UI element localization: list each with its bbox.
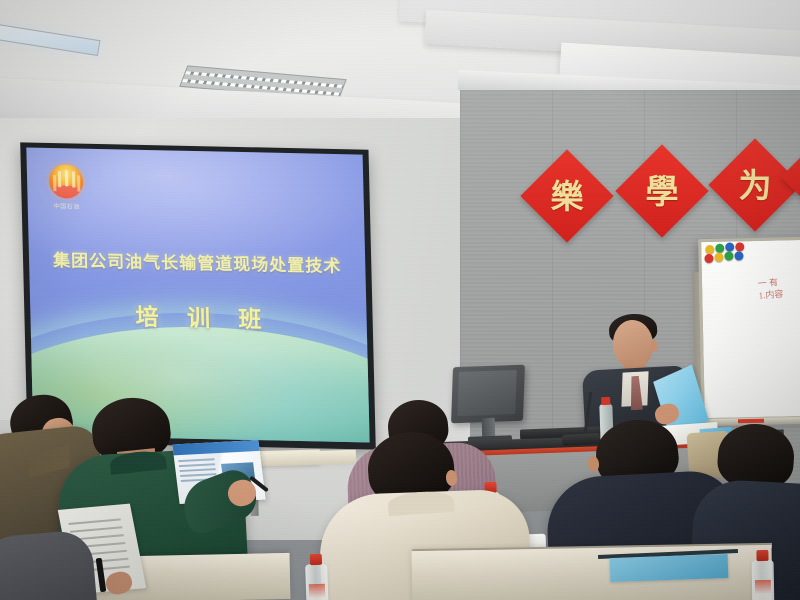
magnet-icon (704, 254, 713, 263)
booklet-text-line (179, 463, 215, 467)
whiteboard-writing: 一 有 1.内容 (757, 276, 783, 302)
banner-character: 學 (646, 175, 679, 208)
microphone-base-icon (562, 433, 601, 446)
booklet-text-line (178, 458, 214, 462)
attendee-front-left (0, 529, 97, 600)
slide-title-line-2: 培 训 班 (30, 295, 367, 336)
slide-title-line-1: 集团公司油气长输管道现场处置技术 (29, 245, 366, 277)
magnet-icon (714, 253, 723, 262)
lcd-monitor (451, 365, 525, 424)
projection-screen: 中国石油 集团公司油气长输管道现场处置技术 培 训 班 (26, 148, 369, 443)
cnpc-wordmark: 中国石油 (46, 201, 88, 211)
banner-character: 为 (739, 169, 772, 202)
magnet-icon (735, 242, 744, 251)
ceiling-light-icon (0, 20, 100, 56)
banner-character: 樂 (551, 180, 584, 213)
sun-logo-icon (49, 164, 84, 199)
magnet-icon (715, 244, 724, 253)
photo-scene: 樂 學 为 中国石油 集团公司油气长输管道现场处置技术 培 训 班 (0, 0, 800, 600)
booklet-text-line (179, 468, 215, 472)
water-bottle (752, 560, 775, 600)
magnet-icon (724, 251, 733, 260)
blue-handout-sheet (610, 554, 729, 582)
whiteboard: 一 有 1.内容 (698, 237, 800, 421)
whiteboard-marker (738, 419, 764, 424)
magnet-icon (725, 242, 734, 251)
magnet-icon (734, 251, 743, 260)
water-bottle (305, 564, 329, 600)
magnet-icon (705, 245, 714, 254)
projection-screen-frame: 中国石油 集团公司油气长输管道现场处置技术 培 训 班 (20, 142, 376, 449)
cnpc-logo: 中国石油 (45, 164, 88, 217)
